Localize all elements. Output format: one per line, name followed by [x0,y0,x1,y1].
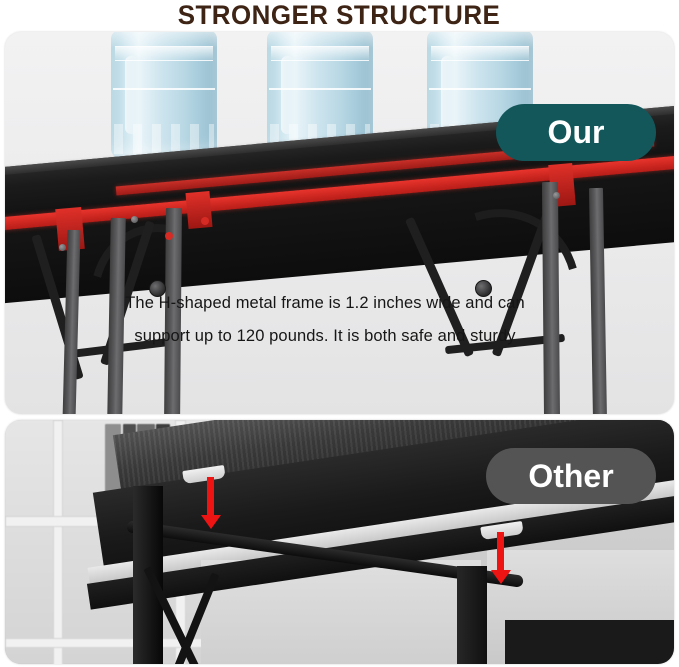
shelf-divider [53,420,63,664]
desk-leg [542,182,560,414]
jug-highlight [441,56,454,134]
jug-waterline [429,88,531,90]
frame-accent-dot [165,232,173,240]
our-product-photo [5,32,674,414]
our-badge-label: Our [548,114,605,151]
other-desk-post [457,566,487,664]
our-badge: Our [496,104,656,161]
our-product-panel: The H-shaped metal frame is 1.2 inches w… [5,32,674,414]
other-badge-label: Other [528,458,613,495]
other-badge: Other [486,448,656,504]
other-product-panel: Other [5,420,674,664]
jug-highlight [281,56,294,134]
screw-icon [553,192,560,199]
page-title: STRONGER STRUCTURE [178,0,501,31]
our-product-caption: The H-shaped metal frame is 1.2 inches w… [125,287,525,353]
water-jug-icon [111,32,217,160]
screw-icon [131,216,138,223]
red-frame-bracket-middle [185,191,212,229]
jug-waterline [113,88,215,90]
screw-icon [59,244,66,251]
other-desk-lower-strip [505,620,674,664]
jug-highlight [125,56,138,134]
frame-accent-dot [201,217,209,225]
red-down-arrow-icon [207,477,214,517]
page-title-bar: STRONGER STRUCTURE [0,0,679,30]
jug-waterline [269,88,371,90]
red-down-arrow-icon [497,532,504,572]
